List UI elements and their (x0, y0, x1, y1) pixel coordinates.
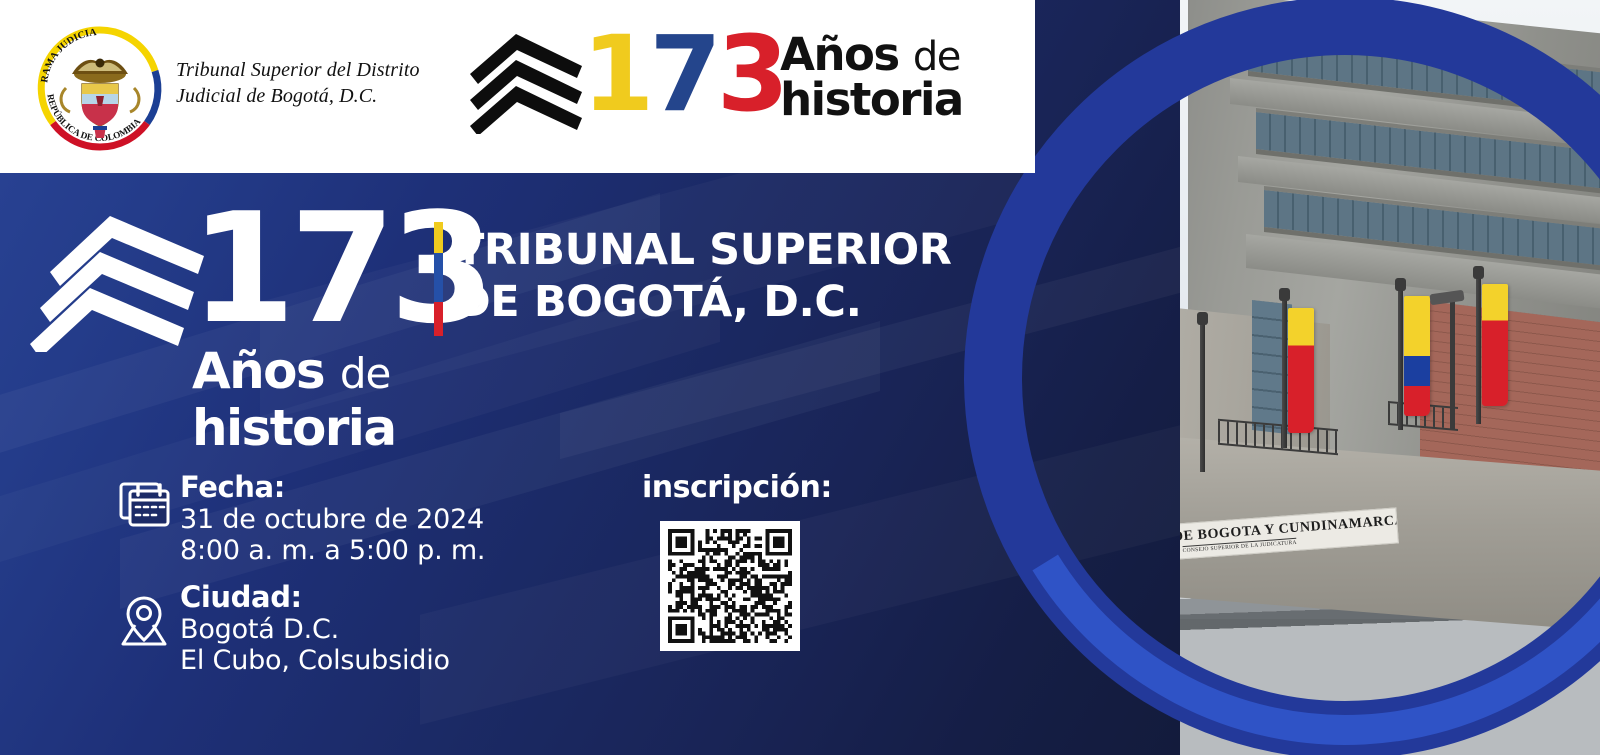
triple-chevron-icon (466, 30, 586, 134)
street-lamp (1450, 300, 1455, 430)
hero-word-de: de (340, 349, 391, 398)
page-title-line1: TRIBUNAL SUPERIOR (455, 224, 952, 276)
anniversary-digit-3: 3 (717, 13, 784, 135)
anniversary-words: Años de historia (780, 36, 963, 119)
detail-value-ciudad-2: El Cubo, Colsubsidio (180, 645, 450, 676)
page-title-line2: DE BOGOTÁ, D.C. (455, 276, 952, 328)
flag-bogota (1482, 284, 1508, 406)
detail-value-fecha-1: 31 de octubre de 2024 (180, 504, 485, 535)
hero-word-anos: Años (192, 342, 324, 400)
flag-bogota (1288, 308, 1314, 433)
flagpole (1476, 276, 1481, 424)
map-pin-icon (118, 580, 180, 648)
anniversary-digit-2: 7 (649, 13, 716, 135)
flagpole (1282, 298, 1287, 448)
detail-value-ciudad-1: Bogotá D.C. (180, 614, 450, 645)
flagpole (1398, 288, 1403, 430)
organization-name-line2: Judicial de Bogotá, D.C. (176, 84, 420, 110)
flagpole (1200, 322, 1205, 472)
qr-code-icon[interactable] (660, 521, 800, 651)
triple-chevron-icon (22, 212, 212, 352)
organization-name: Tribunal Superior del Distrito Judicial … (176, 58, 420, 109)
hero-subtitle: Años de historia (192, 348, 395, 451)
registration-label: inscripción: (642, 470, 870, 505)
flag-colombia (1404, 296, 1430, 416)
registration-block: inscripción: (640, 470, 870, 651)
organization-name-line1: Tribunal Superior del Distrito (176, 58, 420, 84)
hero-word-historia: historia (192, 405, 395, 451)
detail-row-ciudad: Ciudad: Bogotá D.C. El Cubo, Colsubsidio (118, 580, 588, 676)
detail-label-fecha: Fecha: (180, 470, 485, 504)
anniversary-word-historia: historia (780, 81, 963, 120)
rama-judicial-seal-icon: RAMA JUDICIAL REPÚBLICA DE COLOMBIA (30, 18, 170, 158)
page-title: TRIBUNAL SUPERIOR DE BOGOTÁ, D.C. (455, 224, 952, 328)
detail-row-fecha: Fecha: 31 de octubre de 2024 8:00 a. m. … (118, 470, 588, 566)
hero-number: 173 (190, 196, 489, 342)
event-details: Fecha: 31 de octubre de 2024 8:00 a. m. … (118, 470, 588, 690)
detail-label-ciudad: Ciudad: (180, 580, 450, 614)
poster-root: TRIBUNALES DE BOGOTA Y CUNDINAMARCA CONS… (0, 0, 1600, 755)
tricolor-divider-icon (434, 222, 443, 336)
header-band: RAMA JUDICIAL REPÚBLICA DE COLOMBIA (0, 0, 1035, 173)
calendar-icon (118, 470, 180, 530)
anniversary-digit-1: 1 (582, 13, 649, 135)
anniversary-logo: 173 Años de historia (466, 24, 963, 144)
anniversary-number: 173 (582, 24, 784, 124)
detail-value-fecha-2: 8:00 a. m. a 5:00 p. m. (180, 535, 485, 566)
